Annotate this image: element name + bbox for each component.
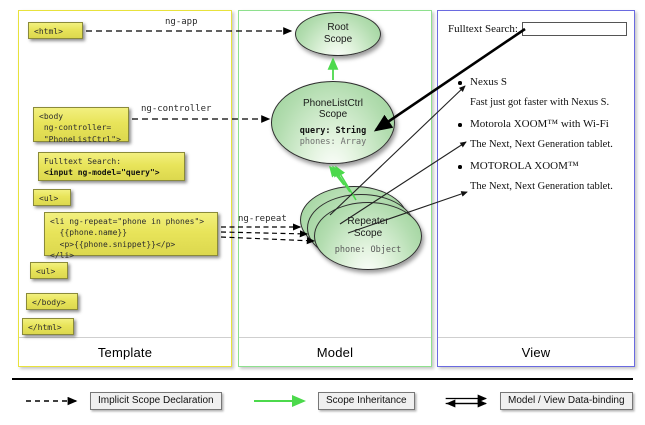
label-ng-app: ng-app bbox=[165, 17, 198, 27]
view-rendered-output: Fulltext Search: Nexus S Fast just got f… bbox=[441, 14, 631, 344]
root-scope-title-1: Root bbox=[324, 22, 352, 34]
list-bullet-icon bbox=[458, 165, 462, 169]
list-item-snippet: The Next, Next Generation tablet. bbox=[450, 181, 630, 192]
code-box-fulltext-search-line2: <input ng-model="query"> bbox=[44, 167, 179, 178]
angularjs-scope-diagram: Template Model View <html> <body ng-cont… bbox=[0, 0, 645, 425]
legend-label-implicit-scope-declaration: Implicit Scope Declaration bbox=[90, 392, 222, 410]
dashed-arrow-icon bbox=[24, 393, 84, 409]
label-ng-repeat: ng-repeat bbox=[238, 214, 287, 224]
list-item: Nexus S Fast just got faster with Nexus … bbox=[450, 76, 630, 108]
code-box-html-open: <html> bbox=[28, 22, 83, 39]
code-box-html-close: </html> bbox=[22, 318, 74, 335]
view-search-row: Fulltext Search: bbox=[448, 22, 627, 36]
legend-rule bbox=[12, 378, 633, 380]
green-arrow-icon bbox=[252, 393, 312, 409]
legend-item-model-view-data-binding: Model / View Data-binding bbox=[444, 392, 633, 410]
list-item: MOTOROLA XOOM™ The Next, Next Generation… bbox=[450, 160, 630, 192]
phonelistctrl-prop-phones: phones: Array bbox=[300, 137, 367, 148]
code-box-ul-close: <ul> bbox=[30, 262, 68, 279]
list-item-snippet: The Next, Next Generation tablet. bbox=[450, 139, 630, 150]
ellipse-phonelistctrl-scope: PhoneListCtrl Scope query: String phones… bbox=[271, 81, 395, 164]
code-box-body-open: <body ng-controller= "PhoneListCtrl"> bbox=[33, 107, 129, 142]
code-box-body-close: </body> bbox=[26, 293, 78, 310]
list-item-snippet: Fast just got faster with Nexus S. bbox=[450, 97, 630, 108]
code-box-fulltext-search: Fulltext Search: <input ng-model="query"… bbox=[38, 152, 185, 181]
root-scope-title-2: Scope bbox=[324, 34, 352, 46]
code-box-ul-open: <ul> bbox=[33, 189, 71, 206]
panel-model-label: Model bbox=[239, 345, 431, 360]
list-item-name[interactable]: Nexus S bbox=[470, 76, 507, 88]
legend-item-scope-inheritance: Scope Inheritance bbox=[252, 392, 415, 410]
ellipse-repeater-scope: Repeater Scope phone: Object bbox=[314, 202, 422, 270]
legend-label-scope-inheritance: Scope Inheritance bbox=[318, 392, 415, 410]
panel-model-divider bbox=[239, 337, 431, 338]
legend: Implicit Scope Declaration Scope Inherit… bbox=[12, 378, 633, 416]
list-bullet-icon bbox=[458, 81, 462, 85]
list-item-name[interactable]: Motorola XOOM™ with Wi-Fi bbox=[470, 118, 609, 130]
phonelistctrl-prop-query: query: String bbox=[300, 126, 367, 137]
panel-template-divider bbox=[19, 337, 231, 338]
label-ng-controller: ng-controller bbox=[141, 104, 211, 114]
code-box-li-ng-repeat: <li ng-repeat="phone in phones"> {{phone… bbox=[44, 212, 218, 256]
view-phone-list: Nexus S Fast just got faster with Nexus … bbox=[450, 76, 630, 202]
legend-label-model-view-data-binding: Model / View Data-binding bbox=[500, 392, 633, 410]
panel-view-label: View bbox=[438, 345, 634, 360]
repeater-scope-prop-phone: phone: Object bbox=[335, 245, 402, 256]
list-item-name[interactable]: MOTOROLA XOOM™ bbox=[470, 160, 579, 172]
view-search-label: Fulltext Search: bbox=[448, 23, 518, 35]
panel-template-label: Template bbox=[19, 345, 231, 360]
legend-item-implicit-scope-declaration: Implicit Scope Declaration bbox=[24, 392, 222, 410]
list-item: Motorola XOOM™ with Wi-Fi The Next, Next… bbox=[450, 118, 630, 150]
code-box-fulltext-search-line1: Fulltext Search: bbox=[44, 156, 179, 167]
repeater-scope-title-2: Scope bbox=[347, 228, 388, 240]
view-search-input[interactable] bbox=[522, 22, 627, 36]
phonelistctrl-title-1: PhoneListCtrl bbox=[303, 98, 363, 110]
double-arrow-icon bbox=[444, 393, 494, 409]
repeater-scope-title-1: Repeater bbox=[347, 216, 388, 228]
phonelistctrl-title-2: Scope bbox=[303, 109, 363, 121]
ellipse-root-scope: Root Scope bbox=[295, 12, 381, 56]
list-bullet-icon bbox=[458, 123, 462, 127]
